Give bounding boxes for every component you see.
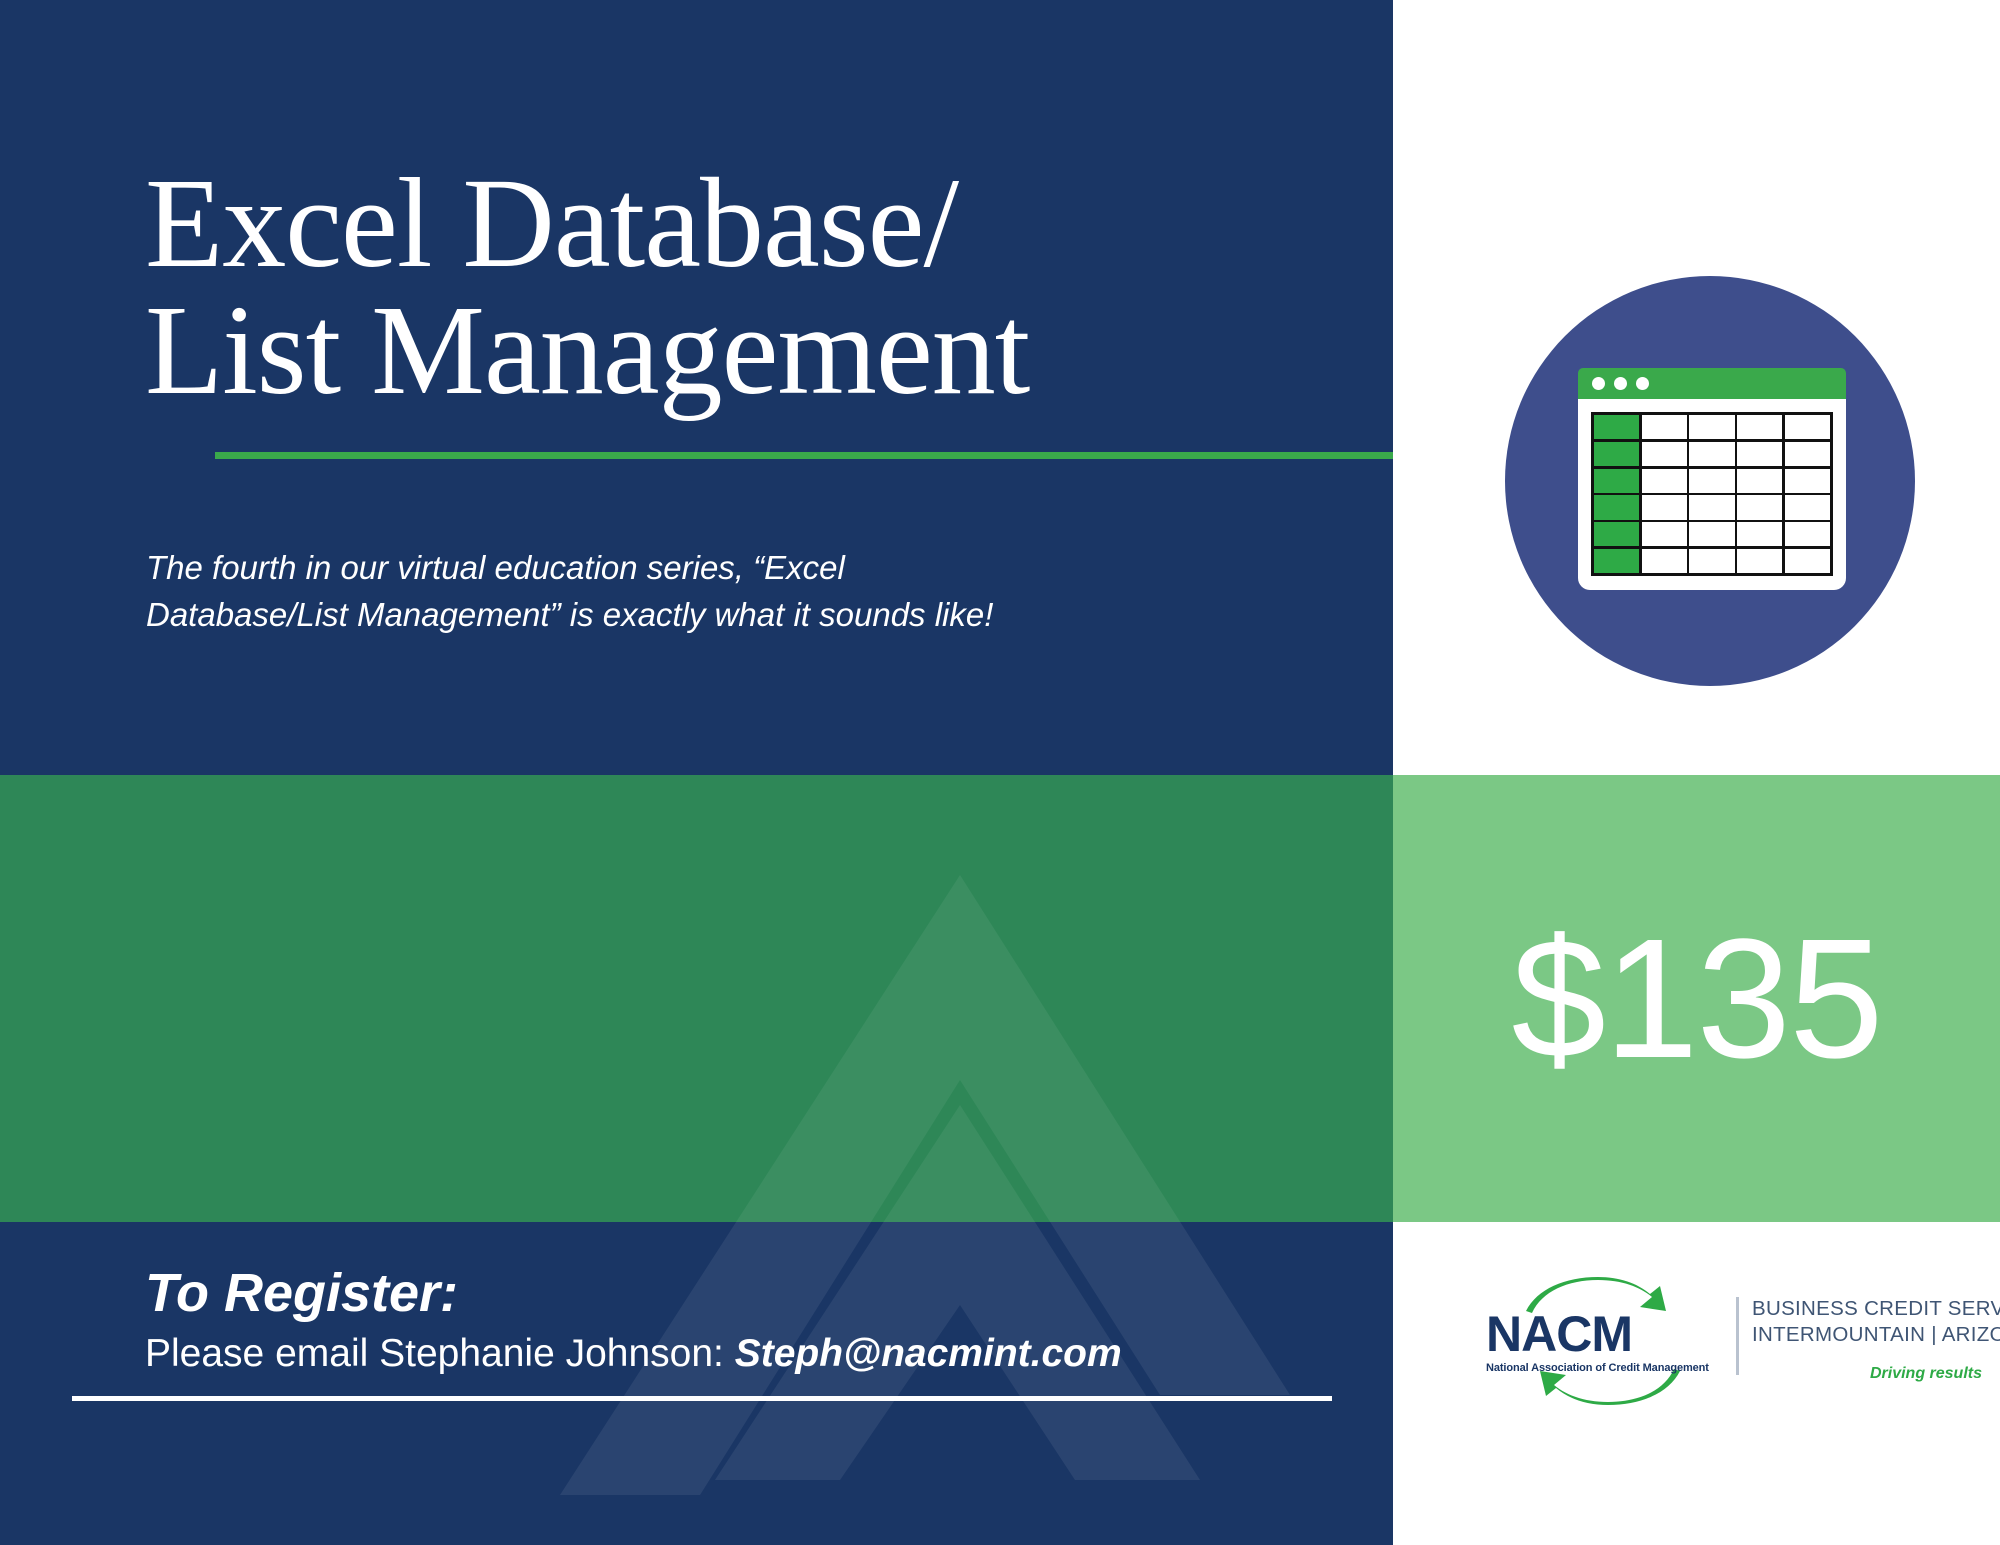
- spreadsheet-cell: [1785, 495, 1830, 519]
- spreadsheet-icon: [1578, 368, 1846, 590]
- spreadsheet-cell: [1785, 469, 1830, 493]
- price-panel: $135: [1393, 775, 2000, 1222]
- window-dot-icon: [1636, 377, 1649, 390]
- spreadsheet-cell: [1594, 522, 1639, 546]
- nacm-logo: NACM National Association of Credit Mana…: [1480, 1277, 1920, 1407]
- spreadsheet-cell: [1594, 549, 1639, 573]
- event-details-panel: March 10th 2026 8AM-NOON (PST): [0, 775, 1393, 1222]
- register-panel: To Register: Please email Stephanie John…: [0, 1222, 1393, 1545]
- logo-divider: [1736, 1297, 1739, 1375]
- window-dot-icon: [1614, 377, 1627, 390]
- spreadsheet-cell: [1737, 495, 1782, 519]
- register-instruction-prefix: Please email Stephanie Johnson:: [145, 1332, 735, 1375]
- spreadsheet-cell: [1642, 415, 1687, 439]
- footer-divider-rule: [72, 1396, 1332, 1401]
- spreadsheet-cell: [1642, 442, 1687, 466]
- register-instruction: Please email Stephanie Johnson: Steph@na…: [145, 1332, 1122, 1376]
- register-heading: To Register:: [145, 1262, 458, 1324]
- spreadsheet-cell: [1594, 469, 1639, 493]
- spreadsheet-cell: [1737, 522, 1782, 546]
- spreadsheet-cell: [1642, 522, 1687, 546]
- spreadsheet-cell: [1642, 495, 1687, 519]
- spreadsheet-cell: [1785, 549, 1830, 573]
- spreadsheet-grid: [1591, 412, 1833, 576]
- price-amount: $135: [1393, 775, 2000, 1222]
- nacm-slogan: Driving results: [1752, 1365, 1982, 1383]
- spreadsheet-cell: [1737, 549, 1782, 573]
- spreadsheet-cell: [1594, 442, 1639, 466]
- spreadsheet-cell: [1785, 522, 1830, 546]
- logo-panel: NACM National Association of Credit Mana…: [1393, 1222, 2000, 1545]
- spreadsheet-cell: [1737, 415, 1782, 439]
- spreadsheet-cell: [1642, 469, 1687, 493]
- nacm-tagline: National Association of Credit Managemen…: [1486, 1362, 1722, 1374]
- spreadsheet-cell: [1737, 469, 1782, 493]
- spreadsheet-cell: [1689, 442, 1734, 466]
- spreadsheet-cell: [1689, 469, 1734, 493]
- spreadsheet-cell: [1594, 415, 1639, 439]
- spreadsheet-cell: [1689, 415, 1734, 439]
- hero-subtitle: The fourth in our virtual education seri…: [146, 545, 1256, 639]
- page-title: Excel Database/ List Management: [145, 160, 1325, 413]
- hero-panel: Excel Database/ List Management The four…: [0, 0, 1393, 775]
- spreadsheet-cell: [1737, 442, 1782, 466]
- window-dot-icon: [1592, 377, 1605, 390]
- spreadsheet-cell: [1642, 549, 1687, 573]
- spreadsheet-cell: [1785, 442, 1830, 466]
- register-email-link[interactable]: Steph@nacmint.com: [735, 1332, 1122, 1375]
- spreadsheet-cell: [1785, 415, 1830, 439]
- flyer-canvas: Excel Database/ List Management The four…: [0, 0, 2000, 1545]
- spreadsheet-cell: [1689, 549, 1734, 573]
- spreadsheet-cell: [1594, 495, 1639, 519]
- chevron-watermark: [0, 775, 1393, 1222]
- nacm-wordmark: NACM: [1486, 1305, 1720, 1363]
- spreadsheet-cell: [1689, 495, 1734, 519]
- nacm-division-line2: INTERMOUNTAIN | ARIZONA: [1752, 1322, 1982, 1348]
- spreadsheet-cell: [1689, 522, 1734, 546]
- nacm-division-line1: BUSINESS CREDIT SERVICES: [1752, 1296, 1982, 1322]
- spreadsheet-titlebar: [1578, 368, 1846, 399]
- accent-line-divider: [215, 452, 1393, 459]
- nacm-division-name: BUSINESS CREDIT SERVICES INTERMOUNTAIN |…: [1752, 1296, 1982, 1348]
